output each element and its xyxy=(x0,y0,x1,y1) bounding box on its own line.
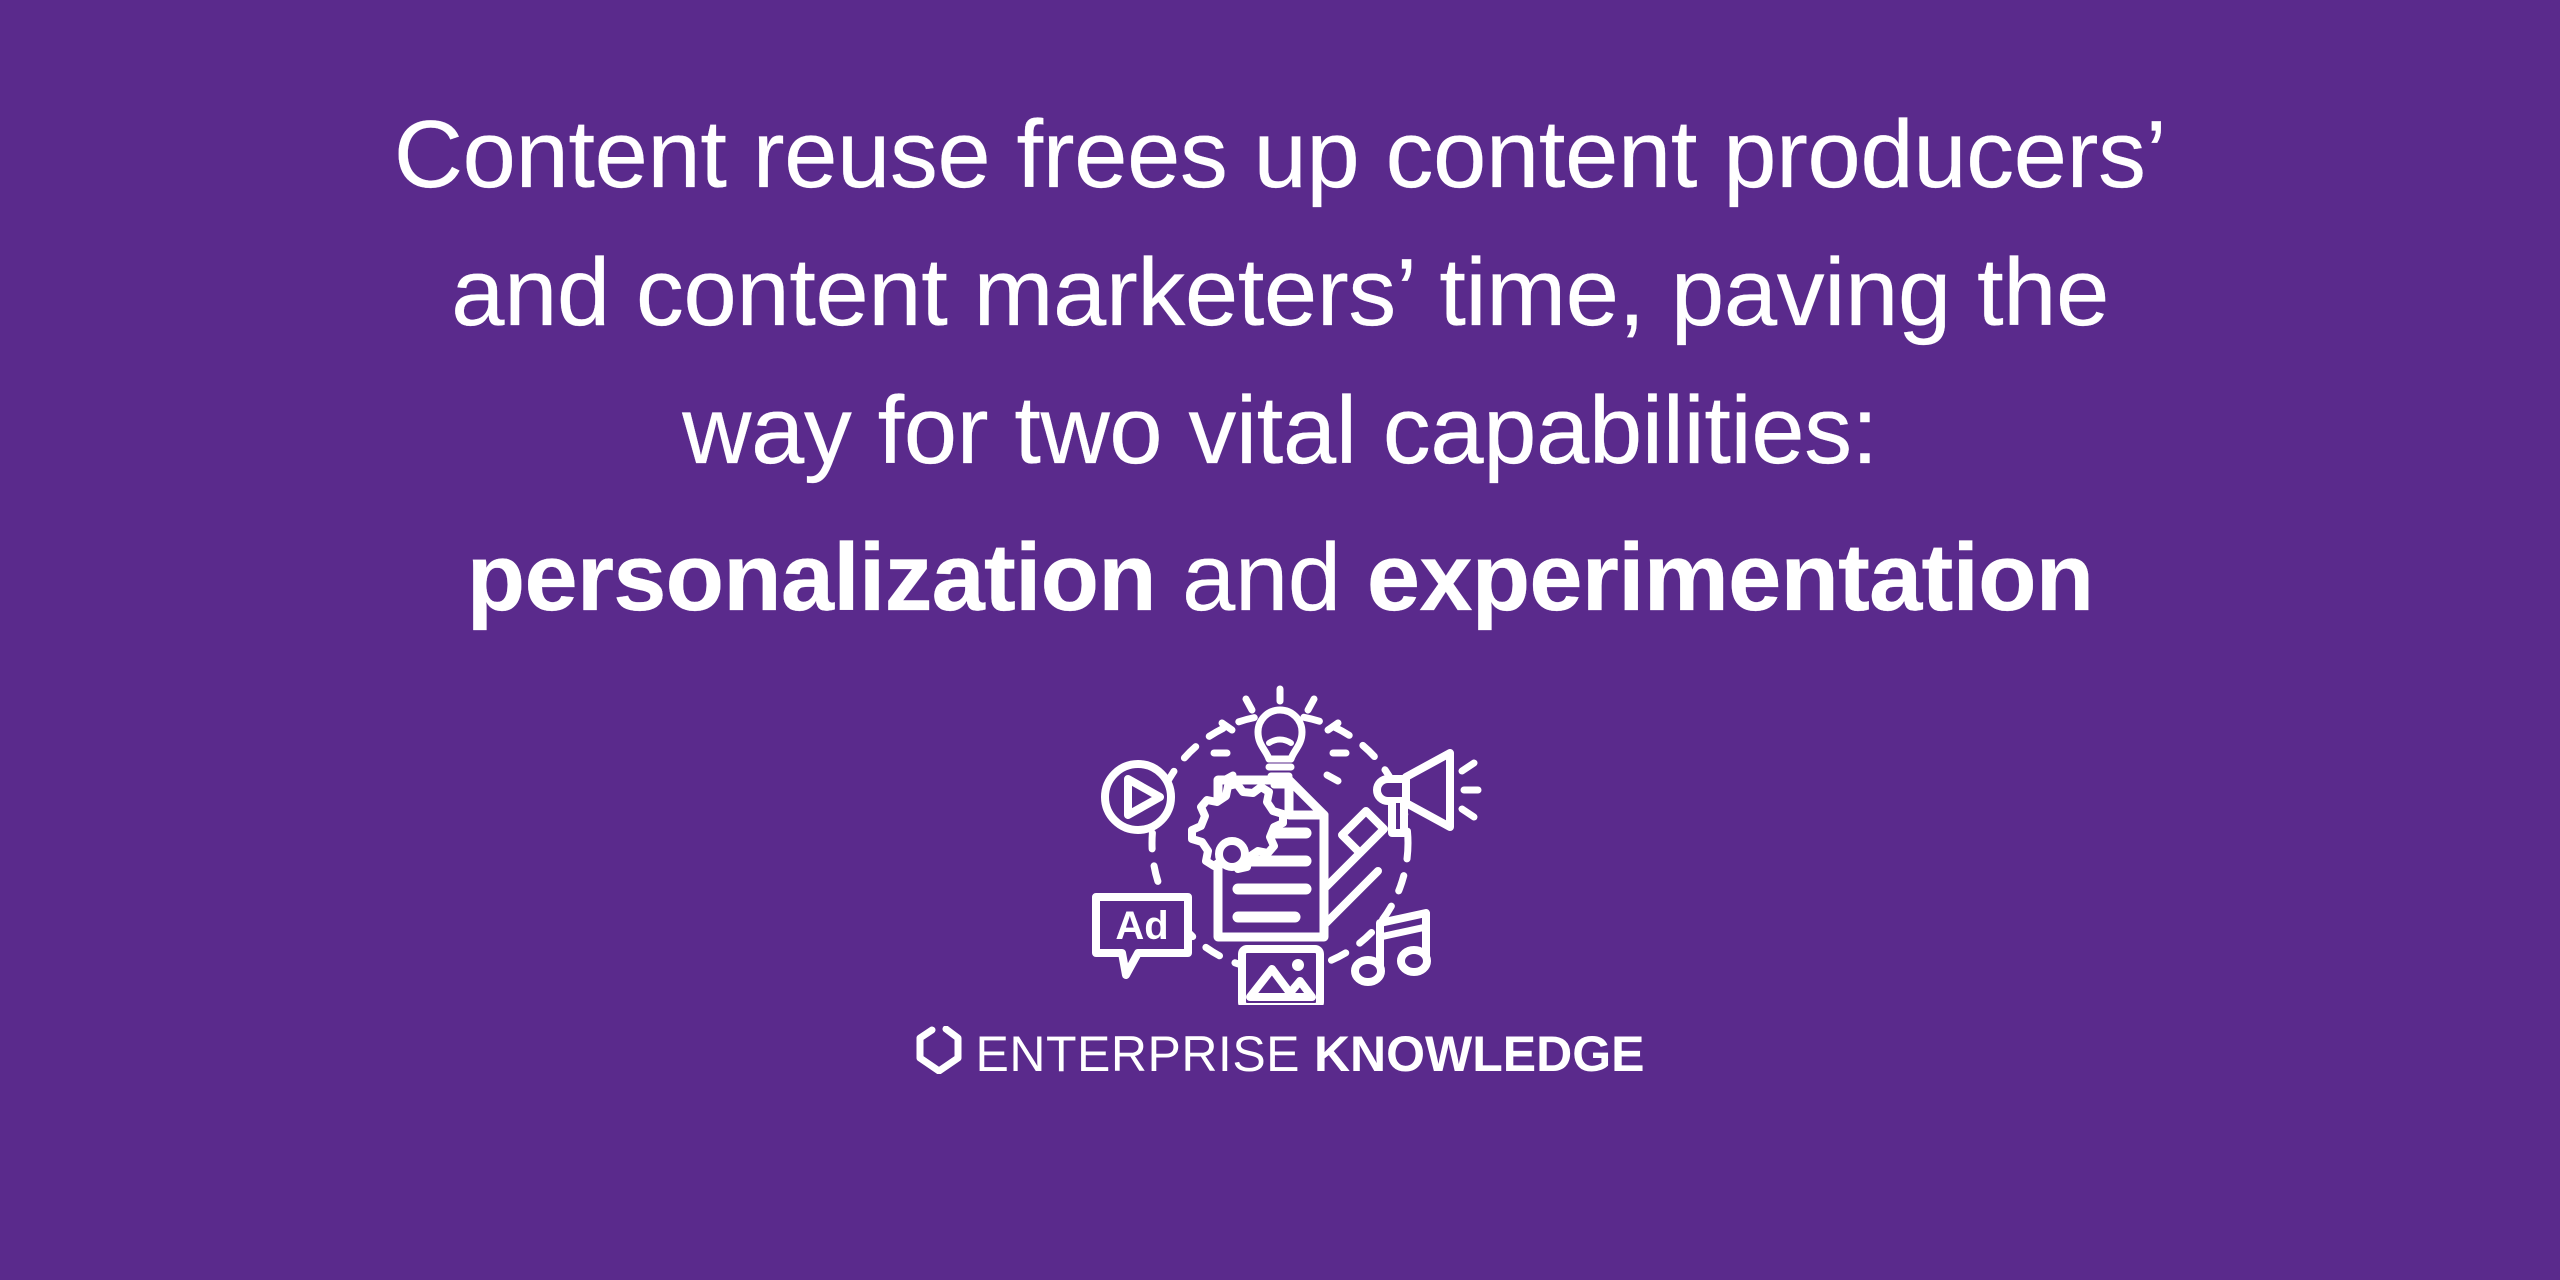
ad-label: Ad xyxy=(1115,904,1168,948)
photo-image-icon xyxy=(1242,949,1320,1005)
play-button-icon xyxy=(1105,764,1171,830)
emphasis-connector: and xyxy=(1156,524,1367,631)
gear-icon xyxy=(1192,784,1283,869)
music-note-icon xyxy=(1355,913,1427,982)
logo-wordmark: ENTERPRISE KNOWLEDGE xyxy=(976,1029,1645,1079)
emphasis-experimentation: experimentation xyxy=(1367,524,2094,631)
megaphone-icon xyxy=(1377,753,1478,833)
content-reuse-cycle-illustration: Ad xyxy=(1070,675,1490,1005)
logo-word-enterprise: ENTERPRISE xyxy=(976,1026,1301,1082)
headline-line-3: way for two vital capabilities: xyxy=(190,362,2370,500)
headline-line-2: and content marketers’ time, paving the xyxy=(190,224,2370,362)
lightbulb-icon xyxy=(1214,689,1346,785)
enterprise-knowledge-logo: ENTERPRISE KNOWLEDGE xyxy=(916,1029,1645,1079)
headline-line-4-emphasis: personalization and experimentation xyxy=(190,509,2370,647)
headline-line-1: Content reuse frees up content producers… xyxy=(190,86,2370,224)
enterprise-knowledge-hexagon-mark xyxy=(916,1026,962,1074)
logo-word-knowledge: KNOWLEDGE xyxy=(1300,1026,1644,1082)
megaphone-sound-lines xyxy=(1462,763,1478,817)
headline-text-block: Content reuse frees up content producers… xyxy=(190,86,2370,647)
emphasis-personalization: personalization xyxy=(467,524,1156,631)
slide-canvas: Content reuse frees up content producers… xyxy=(0,0,2560,1280)
